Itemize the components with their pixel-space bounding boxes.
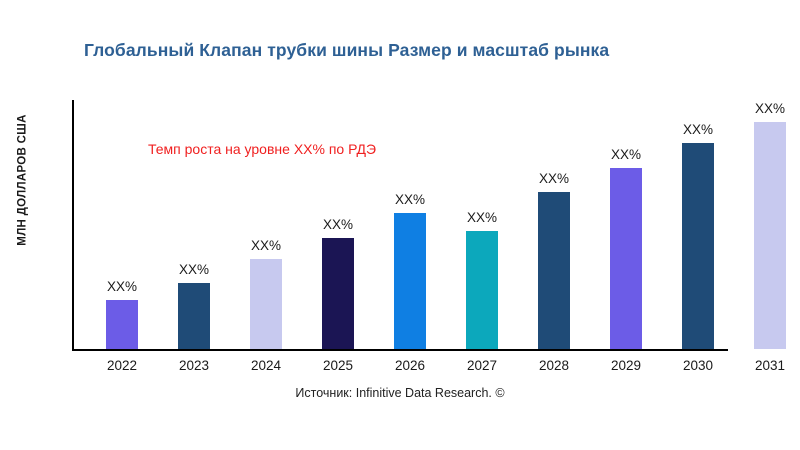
x-tick-label-2027: 2027 [446,358,518,373]
bar-group: XX% [250,259,282,349]
x-tick-label-2029: 2029 [590,358,662,373]
bar-group: XX% [754,122,786,349]
bar-group: XX% [538,192,570,349]
bar-value-label: XX% [664,122,732,137]
bar-value-label: XX% [448,210,516,225]
bar-value-label: XX% [160,262,228,277]
x-tick-label-2031: 2031 [734,358,800,373]
bar-group: XX% [682,143,714,349]
bar-group: XX% [610,168,642,349]
x-tick-label-2030: 2030 [662,358,734,373]
x-axis-line [72,349,728,351]
x-tick-label-2026: 2026 [374,358,446,373]
y-axis-line [72,100,74,350]
bar-group: XX% [178,283,210,349]
bar-value-label: XX% [88,279,156,294]
y-axis-label: МЛН ДОЛЛАРОВ США [17,114,29,245]
bar-group: XX% [106,300,138,349]
bar-value-label: XX% [376,192,444,207]
bar-2029[interactable] [610,168,642,349]
bar-2026[interactable] [394,213,426,349]
bar-value-label: XX% [232,238,300,253]
bar-2023[interactable] [178,283,210,349]
bar-value-label: XX% [736,101,800,116]
source-caption: Источник: Infinitive Data Research. © [0,386,800,400]
x-tick-label-2028: 2028 [518,358,590,373]
x-tick-label-2023: 2023 [158,358,230,373]
plot-area: XX%2022XX%2023XX%2024XX%2025XX%2026XX%20… [72,100,728,350]
bar-value-label: XX% [520,171,588,186]
bar-2025[interactable] [322,238,354,349]
x-tick-label-2024: 2024 [230,358,302,373]
bar-group: XX% [322,238,354,349]
bar-value-label: XX% [592,147,660,162]
bar-group: XX% [466,231,498,349]
bar-group: XX% [394,213,426,349]
bar-chart-figure: Глобальный Клапан трубки шины Размер и м… [0,0,800,450]
chart-title: Глобальный Клапан трубки шины Размер и м… [84,40,724,61]
bar-2024[interactable] [250,259,282,349]
bar-2028[interactable] [538,192,570,349]
bar-2022[interactable] [106,300,138,349]
bar-2027[interactable] [466,231,498,349]
y-axis-label-container: МЛН ДОЛЛАРОВ США [0,0,46,360]
growth-rate-annotation: Темп роста на уровне XX% по РДЭ [148,141,376,157]
bar-2031[interactable] [754,122,786,349]
bar-value-label: XX% [304,217,372,232]
bar-2030[interactable] [682,143,714,349]
x-tick-label-2025: 2025 [302,358,374,373]
x-tick-label-2022: 2022 [86,358,158,373]
